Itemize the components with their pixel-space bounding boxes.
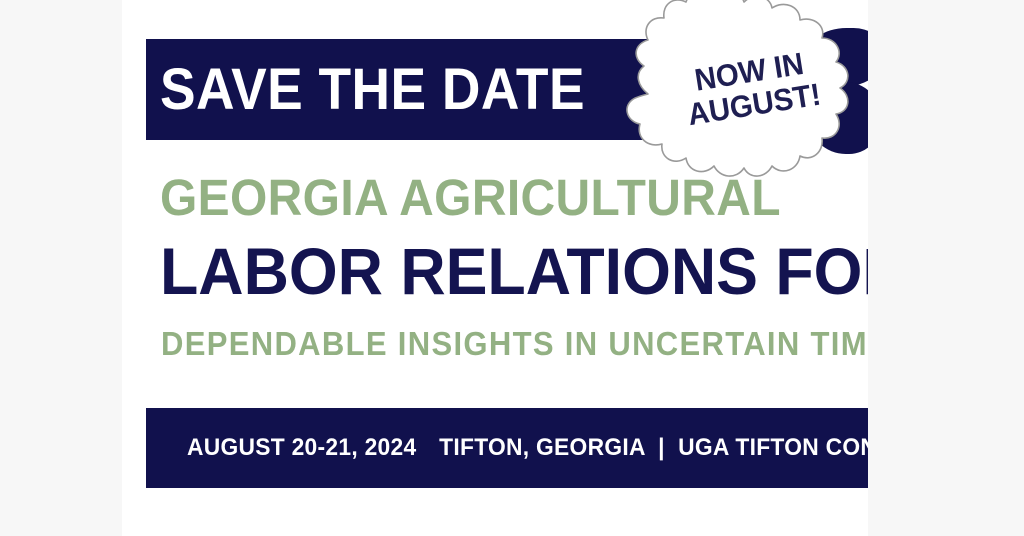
event-details-text: AUGUST 20-21, 2024 TIFTON, GEORGIA | UGA…	[187, 436, 868, 460]
save-the-date-banner: SAVE THE DATE	[146, 39, 676, 140]
forum-title: LABOR RELATIONS FORUM	[160, 238, 868, 304]
detail-separator: |	[651, 436, 671, 460]
event-city: TIFTON, GEORGIA	[439, 434, 645, 461]
page-background: SAVE THE DATE NOW IN AUGUST! GEORGIA AGR…	[0, 0, 1024, 536]
event-dates: AUGUST 20-21, 2024	[187, 434, 416, 461]
event-details-bar: AUGUST 20-21, 2024 TIFTON, GEORGIA | UGA…	[146, 408, 868, 488]
flyer-canvas: SAVE THE DATE NOW IN AUGUST! GEORGIA AGR…	[122, 0, 868, 536]
save-the-date-text: SAVE THE DATE	[160, 61, 585, 119]
event-venue: UGA TIFTON CONFERENCE CENTER	[678, 434, 868, 461]
tagline: DEPENDABLE INSIGHTS IN UNCERTAIN TIMES	[161, 327, 868, 360]
starburst-icon	[618, 0, 868, 194]
starburst-badge: NOW IN AUGUST!	[618, 0, 868, 194]
